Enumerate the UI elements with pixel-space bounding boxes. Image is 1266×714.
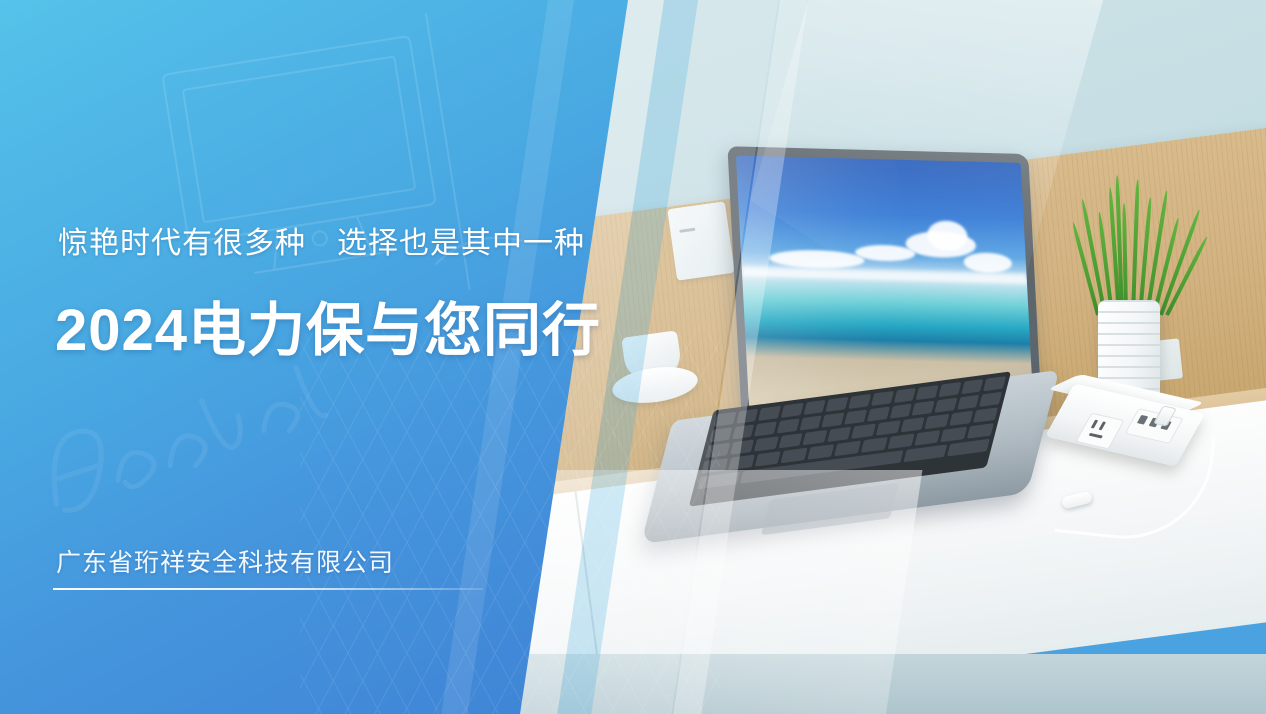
- potted-grass-plant: [1090, 175, 1180, 315]
- screen-glare: [736, 155, 974, 414]
- cloud-shape: [963, 252, 1012, 273]
- promo-slide: 惊艳时代有很多种 选择也是其中一种 2024电力保与您同行 广东省珩祥安全科技有…: [0, 0, 1266, 714]
- wall-socket-plate-icon: [667, 201, 734, 280]
